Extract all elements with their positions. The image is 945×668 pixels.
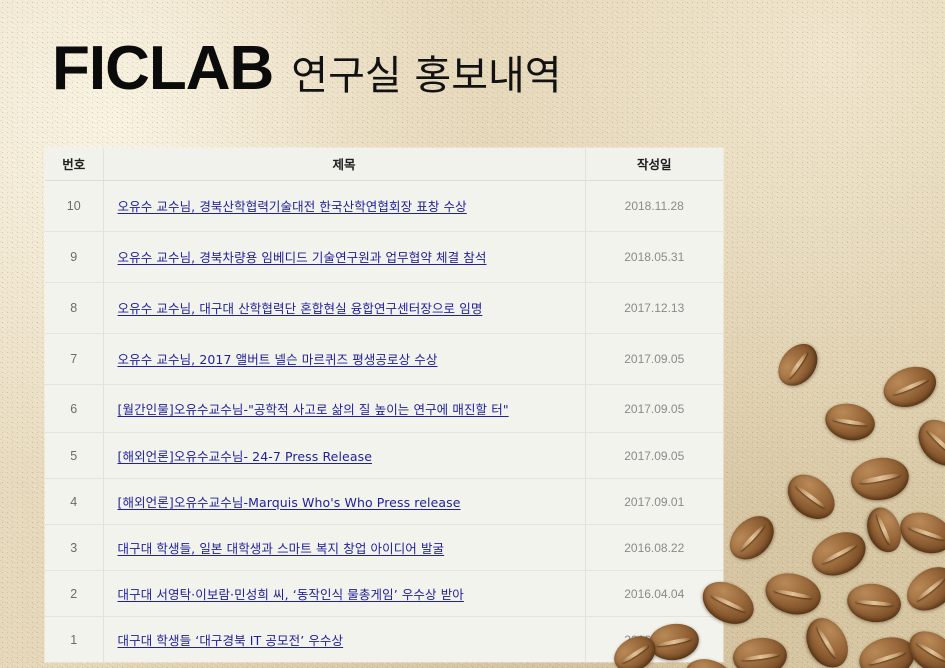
row-date: 2017.12.13 [585, 283, 723, 334]
row-number: 1 [45, 617, 103, 663]
row-number: 4 [45, 479, 103, 525]
coffee-bean-icon [779, 466, 843, 529]
row-date: 2017.09.05 [585, 385, 723, 433]
coffee-bean-icon [845, 580, 904, 625]
row-date: 2018.11.28 [585, 181, 723, 232]
table-row[interactable]: 1대구대 학생들 ‘대구경북 IT 공모전’ 우수상2016.04.04 [45, 617, 723, 663]
row-number: 10 [45, 181, 103, 232]
row-number: 3 [45, 525, 103, 571]
row-title-link[interactable]: 오유수 교수님, 2017 앨버트 넬슨 마르퀴즈 평생공로상 수상 [118, 352, 438, 367]
subtitle-text: 연구실 홍보내역 [291, 56, 561, 96]
row-title-link[interactable]: [해외언론]오유수교수님- 24-7 Press Release [118, 449, 373, 464]
row-title-cell: 오유수 교수님, 대구대 산학협력단 혼합현실 융합연구센터장으로 임명 [103, 283, 585, 334]
coffee-bean-icon [822, 399, 878, 445]
row-date: 2016.04.04 [585, 617, 723, 663]
row-date: 2017.09.05 [585, 334, 723, 385]
row-number: 9 [45, 232, 103, 283]
table-header-row: 번호 제목 작성일 [45, 148, 723, 181]
column-header-date: 작성일 [585, 148, 723, 181]
row-title-cell: [월간인물]오유수교수님-"공학적 사고로 삶의 질 높이는 연구에 매진할 터… [103, 385, 585, 433]
coffee-bean-icon [901, 623, 945, 668]
table-row[interactable]: 4[해외언론]오유수교수님-Marquis Who's Who Press re… [45, 479, 723, 525]
coffee-bean-icon [861, 503, 907, 557]
table-row[interactable]: 6[월간인물]오유수교수님-"공학적 사고로 삶의 질 높이는 연구에 매진할 … [45, 385, 723, 433]
row-title-link[interactable]: 대구대 학생들 ‘대구경북 IT 공모전’ 우수상 [118, 633, 344, 648]
row-date: 2017.09.05 [585, 433, 723, 479]
row-title-link[interactable]: 대구대 학생들, 일본 대학생과 스마트 복지 창업 아이디어 발굴 [118, 541, 445, 556]
table-row[interactable]: 7오유수 교수님, 2017 앨버트 넬슨 마르퀴즈 평생공로상 수상2017.… [45, 334, 723, 385]
brand-title: FICLAB [52, 38, 273, 100]
row-title-link[interactable]: [월간인물]오유수교수님-"공학적 사고로 삶의 질 높이는 연구에 매진할 터… [118, 402, 509, 417]
column-header-no: 번호 [45, 148, 103, 181]
coffee-bean-icon [855, 631, 919, 668]
coffee-bean-icon [798, 611, 856, 668]
row-date: 2017.09.01 [585, 479, 723, 525]
row-date: 2016.08.22 [585, 525, 723, 571]
row-title-cell: 오유수 교수님, 경북차량용 임베디드 기술연구원과 업무협약 체결 참석 [103, 232, 585, 283]
slide-canvas: FICLAB 연구실 홍보내역 번호 제목 작성일 10오유수 교수님, 경북산… [0, 0, 945, 668]
page-title: FICLAB 연구실 홍보내역 [52, 38, 562, 100]
row-title-cell: 오유수 교수님, 2017 앨버트 넬슨 마르퀴즈 평생공로상 수상 [103, 334, 585, 385]
row-number: 7 [45, 334, 103, 385]
row-title-cell: 대구대 학생들 ‘대구경북 IT 공모전’ 우수상 [103, 617, 585, 663]
table-row[interactable]: 10오유수 교수님, 경북산학협력기술대전 한국산학연협회장 표창 수상2018… [45, 181, 723, 232]
row-number: 5 [45, 433, 103, 479]
column-header-title: 제목 [103, 148, 585, 181]
row-number: 8 [45, 283, 103, 334]
row-number: 2 [45, 571, 103, 617]
table-row[interactable]: 8오유수 교수님, 대구대 산학협력단 혼합현실 융합연구센터장으로 임명201… [45, 283, 723, 334]
notice-table: 번호 제목 작성일 10오유수 교수님, 경북산학협력기술대전 한국산학연협회장… [45, 148, 723, 662]
row-title-cell: 대구대 서영탁·이보람·민성희 씨, ‘동작인식 물총게임’ 우수상 받아 [103, 571, 585, 617]
table-row[interactable]: 5[해외언론]오유수교수님- 24-7 Press Release2017.09… [45, 433, 723, 479]
row-title-cell: 대구대 학생들, 일본 대학생과 스마트 복지 창업 아이디어 발굴 [103, 525, 585, 571]
row-title-cell: [해외언론]오유수교수님-Marquis Who's Who Press rel… [103, 479, 585, 525]
table-row[interactable]: 3대구대 학생들, 일본 대학생과 스마트 복지 창업 아이디어 발굴2016.… [45, 525, 723, 571]
table-body: 10오유수 교수님, 경북산학협력기술대전 한국산학연협회장 표창 수상2018… [45, 181, 723, 663]
row-title-link[interactable]: 오유수 교수님, 경북차량용 임베디드 기술연구원과 업무협약 체결 참석 [118, 250, 487, 265]
row-date: 2018.05.31 [585, 232, 723, 283]
row-number: 6 [45, 385, 103, 433]
row-date: 2016.04.04 [585, 571, 723, 617]
coffee-bean-icon [848, 454, 911, 504]
table-header: 번호 제목 작성일 [45, 148, 723, 181]
coffee-bean-icon [805, 524, 873, 584]
coffee-bean-icon [770, 336, 825, 393]
coffee-bean-icon [899, 558, 945, 619]
row-title-link[interactable]: 대구대 서영탁·이보람·민성희 씨, ‘동작인식 물총게임’ 우수상 받아 [118, 587, 464, 602]
coffee-bean-icon [878, 360, 942, 414]
table-row[interactable]: 2대구대 서영탁·이보람·민성희 씨, ‘동작인식 물총게임’ 우수상 받아20… [45, 571, 723, 617]
coffee-bean-icon [731, 636, 788, 668]
coffee-bean-icon [909, 411, 945, 475]
row-title-cell: 오유수 교수님, 경북산학협력기술대전 한국산학연협회장 표창 수상 [103, 181, 585, 232]
row-title-link[interactable]: 오유수 교수님, 대구대 산학협력단 혼합현실 융합연구센터장으로 임명 [118, 301, 483, 316]
row-title-link[interactable]: [해외언론]오유수교수님-Marquis Who's Who Press rel… [118, 495, 461, 510]
coffee-bean-icon [761, 568, 825, 620]
coffee-bean-icon [722, 508, 783, 569]
notice-board-panel: 번호 제목 작성일 10오유수 교수님, 경북산학협력기술대전 한국산학연협회장… [45, 148, 723, 662]
row-title-cell: [해외언론]오유수교수님- 24-7 Press Release [103, 433, 585, 479]
row-title-link[interactable]: 오유수 교수님, 경북산학협력기술대전 한국산학연협회장 표창 수상 [118, 199, 467, 214]
table-row[interactable]: 9오유수 교수님, 경북차량용 임베디드 기술연구원과 업무협약 체결 참석20… [45, 232, 723, 283]
coffee-bean-icon [894, 505, 945, 560]
